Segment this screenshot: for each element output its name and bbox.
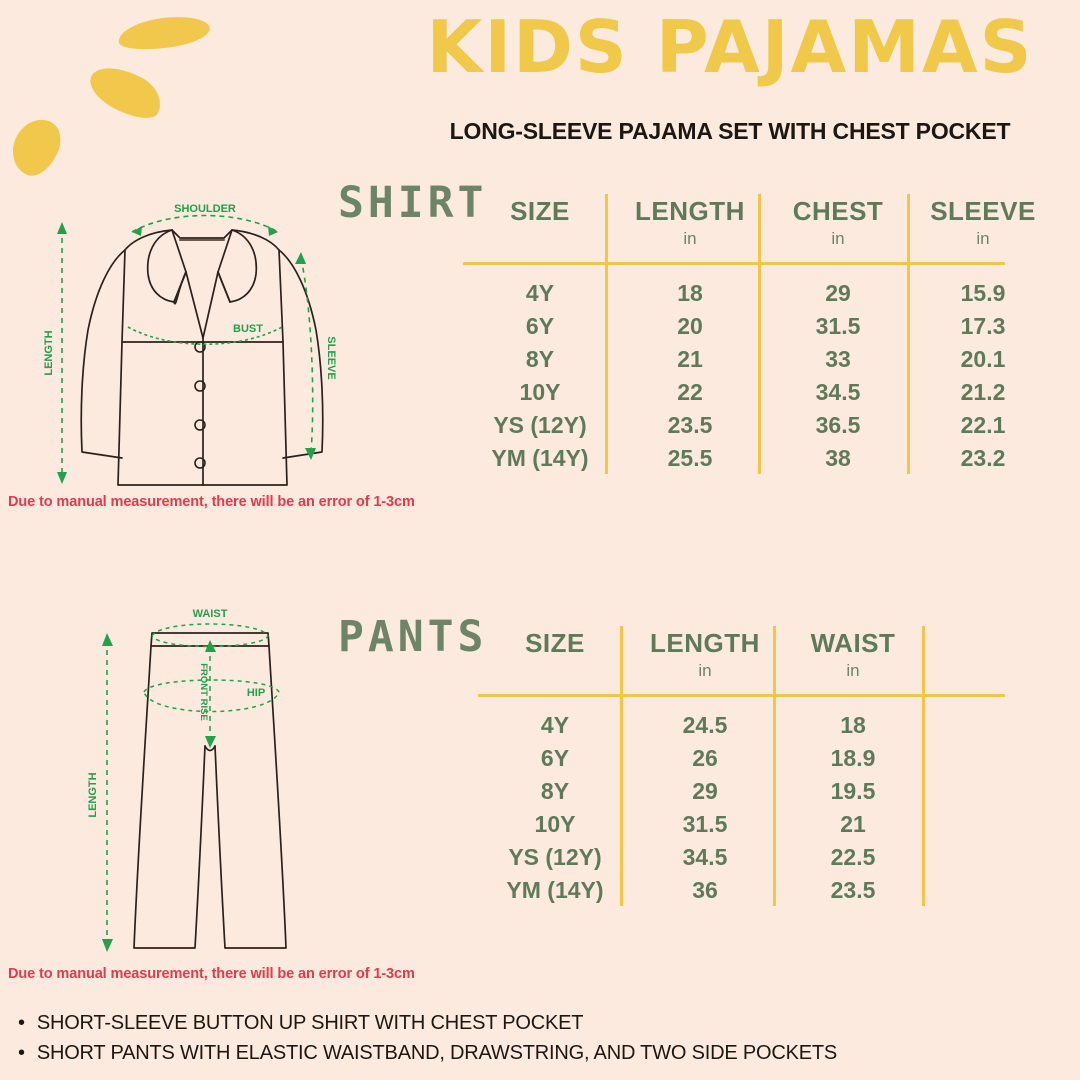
table-cell: 36 [630,877,780,904]
table-cell: 6Y [470,313,610,340]
pants-col-length-unit: in [630,661,780,681]
table-cell: 24.5 [630,712,780,739]
shirt-label-shoulder: SHOULDER [174,203,236,215]
table-cell: 17.3 [913,313,1053,340]
shirt-label-sleeve: SLEEVE [325,336,337,379]
table-cell: 21 [615,346,765,373]
list-item-label: SHORT-SLEEVE BUTTON UP SHIRT WITH CHEST … [37,1012,583,1035]
table-cell: 34.5 [630,844,780,871]
bullet-dot-icon: • [18,1042,25,1065]
shirt-col-length-header: LENGTH [615,196,765,227]
table-cell: YM (14Y) [485,877,625,904]
shirt-col-chest-unit: in [768,229,908,249]
pants-label-length: LENGTH [87,772,99,817]
table-cell: YS (12Y) [485,844,625,871]
shirt-col-size-header: SIZE [470,196,610,227]
table-cell: 22.1 [913,412,1053,439]
table-cell: 8Y [485,778,625,805]
page-subtitle: LONG-SLEEVE PAJAMA SET WITH CHEST POCKET [400,118,1060,145]
table-cell: 23.2 [913,445,1053,472]
pants-table-rule [478,694,1005,697]
table-cell: 22.5 [783,844,923,871]
table-cell: 10Y [485,811,625,838]
pants-col-waist-header: WAIST [783,628,923,659]
shirt-col-sleeve-header: SLEEVE [913,196,1053,227]
shirt-label-bust: BUST [233,323,263,335]
table-cell: 4Y [470,280,610,307]
feature-list: • SHORT-SLEEVE BUTTON UP SHIRT WITH CHES… [18,1012,1058,1072]
table-cell: 22 [615,379,765,406]
table-cell: 20 [615,313,765,340]
table-cell: 4Y [485,712,625,739]
size-chart-page: KIDS PAJAMAS LONG-SLEEVE PAJAMA SET WITH… [0,0,1080,1080]
bullet-dot-icon: • [18,1012,25,1035]
table-cell: 18 [615,280,765,307]
table-cell: 20.1 [913,346,1053,373]
table-cell: 18.9 [783,745,923,772]
table-cell: YM (14Y) [470,445,610,472]
list-item: • SHORT PANTS WITH ELASTIC WAISTBAND, DR… [18,1042,1058,1065]
shirt-col-sleeve-unit: in [913,229,1053,249]
page-title: KIDS PAJAMAS [420,10,1040,86]
list-item: • SHORT-SLEEVE BUTTON UP SHIRT WITH CHES… [18,1012,1058,1035]
shirt-table-rule [463,262,1005,265]
pants-col-size-header: SIZE [485,628,625,659]
table-cell: 21 [783,811,923,838]
pants-label-hip: HIP [247,687,265,699]
decorative-blob-icon [116,12,211,55]
shirt-col-chest-header: CHEST [768,196,908,227]
table-cell: 15.9 [913,280,1053,307]
shirt-size-table: SIZE LENGTH CHEST SLEEVE in in in 4Y 18 … [470,196,1010,486]
shirt-disclaimer: Due to manual measurement, there will be… [8,494,415,510]
pants-col-waist-unit: in [783,661,923,681]
pants-diagram: WAIST LENGTH FRONT RISE HIP [60,600,360,970]
table-cell: 29 [630,778,780,805]
table-cell: 25.5 [615,445,765,472]
pants-col-length-header: LENGTH [630,628,780,659]
pants-disclaimer: Due to manual measurement, there will be… [8,966,415,982]
table-cell: 31.5 [768,313,908,340]
table-cell: 33 [768,346,908,373]
section-title-shirt: SHIRT [338,178,487,228]
pants-size-table: SIZE LENGTH WAIST in in 4Y 24.5 18 6Y 26… [485,628,1025,918]
table-cell: YS (12Y) [470,412,610,439]
table-cell: 18 [783,712,923,739]
table-cell: 23.5 [615,412,765,439]
table-cell: 36.5 [768,412,908,439]
table-cell: 23.5 [783,877,923,904]
table-cell: 6Y [485,745,625,772]
table-cell: 10Y [470,379,610,406]
table-cell: 19.5 [783,778,923,805]
table-cell: 38 [768,445,908,472]
table-cell: 31.5 [630,811,780,838]
table-cell: 29 [768,280,908,307]
decorative-blob-icon [4,111,69,182]
pants-label-waist: WAIST [193,608,228,620]
shirt-diagram: SHOULDER LENGTH BUST SLEEVE [0,190,360,490]
table-cell: 34.5 [768,379,908,406]
table-cell: 26 [630,745,780,772]
shirt-label-length: LENGTH [43,330,55,375]
decorative-blob-icon [83,57,169,128]
section-title-pants: PANTS [338,612,487,662]
list-item-label: SHORT PANTS WITH ELASTIC WAISTBAND, DRAW… [37,1042,837,1065]
shirt-col-length-unit: in [615,229,765,249]
table-cell: 8Y [470,346,610,373]
table-cell: 21.2 [913,379,1053,406]
